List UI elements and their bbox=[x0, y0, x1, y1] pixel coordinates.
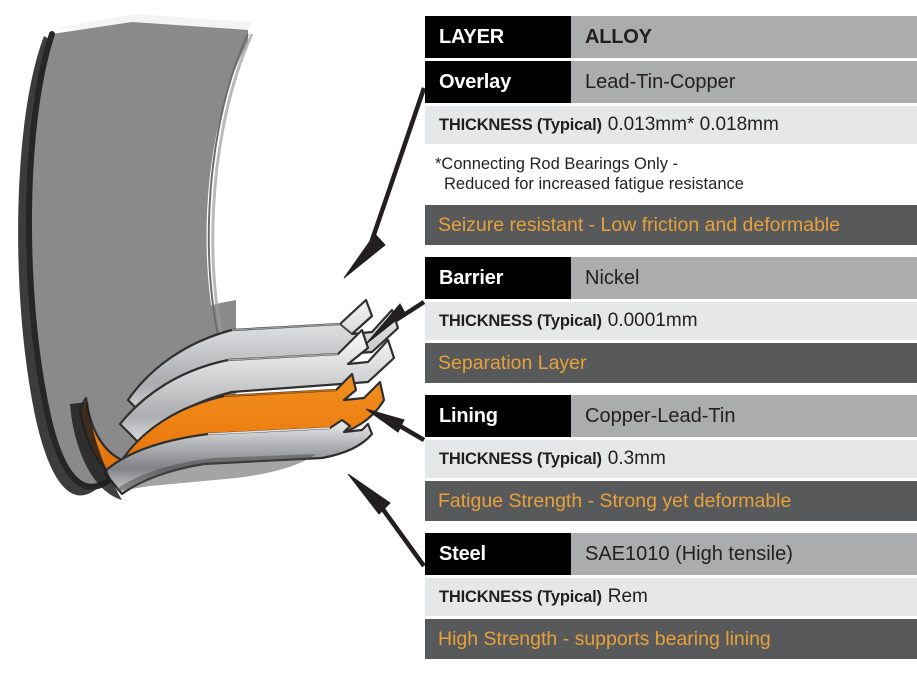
layer-alloy-lining: Copper-Lead-Tin bbox=[571, 405, 917, 428]
thickness-value-barrier: 0.0001mm bbox=[608, 310, 698, 332]
header-layer-cell: LAYER bbox=[425, 16, 571, 58]
layer-alloy-barrier: Nickel bbox=[571, 267, 917, 290]
thickness-row-steel: THICKNESS (Typical) Rem bbox=[425, 578, 917, 616]
layer-name-overlay: Overlay bbox=[425, 61, 571, 103]
thickness-row-lining: THICKNESS (Typical) 0.3mm bbox=[425, 440, 917, 478]
benefit-row-barrier: Separation Layer bbox=[425, 343, 917, 383]
layer-row-overlay: Overlay Lead-Tin-Copper bbox=[425, 61, 917, 103]
thickness-value-lining: 0.3mm bbox=[608, 448, 666, 470]
group-divider bbox=[425, 383, 917, 395]
group-divider bbox=[425, 245, 917, 257]
benefit-row-steel: High Strength - supports bearing lining bbox=[425, 619, 917, 659]
layer-group-steel: Steel SAE1010 (High tensile) THICKNESS (… bbox=[425, 533, 917, 659]
table-header-row: LAYER ALLOY bbox=[425, 16, 917, 58]
layer-spec-table: LAYER ALLOY Overlay Lead-Tin-Copper THIC… bbox=[425, 16, 917, 659]
thickness-value-steel: Rem bbox=[608, 586, 648, 608]
layer-alloy-overlay: Lead-Tin-Copper bbox=[571, 71, 917, 94]
layer-alloy-steel: SAE1010 (High tensile) bbox=[571, 543, 917, 566]
thickness-row-barrier: THICKNESS (Typical) 0.0001mm bbox=[425, 302, 917, 340]
thickness-label: THICKNESS (Typical) bbox=[439, 450, 602, 469]
layer-group-overlay: Overlay Lead-Tin-Copper THICKNESS (Typic… bbox=[425, 61, 917, 245]
group-divider bbox=[425, 521, 917, 533]
bearing-layer-diagram: LAYER ALLOY Overlay Lead-Tin-Copper THIC… bbox=[0, 0, 917, 693]
layer-name-lining: Lining bbox=[425, 395, 571, 437]
layer-row-lining: Lining Copper-Lead-Tin bbox=[425, 395, 917, 437]
layer-row-steel: Steel SAE1010 (High tensile) bbox=[425, 533, 917, 575]
layer-name-steel: Steel bbox=[425, 533, 571, 575]
footnote-line-1: *Connecting Rod Bearings Only - bbox=[435, 155, 678, 173]
bearing-illustration bbox=[0, 0, 425, 693]
layer-group-barrier: Barrier Nickel THICKNESS (Typical) 0.000… bbox=[425, 257, 917, 383]
thickness-value-overlay: 0.013mm* 0.018mm bbox=[608, 114, 779, 136]
benefit-row-overlay: Seizure resistant - Low friction and def… bbox=[425, 205, 917, 245]
thickness-label: THICKNESS (Typical) bbox=[439, 588, 602, 607]
thickness-label: THICKNESS (Typical) bbox=[439, 312, 602, 331]
layer-group-lining: Lining Copper-Lead-Tin THICKNESS (Typica… bbox=[425, 395, 917, 521]
layer-name-barrier: Barrier bbox=[425, 257, 571, 299]
footnote-line-2: Reduced for increased fatigue resistance bbox=[435, 174, 917, 194]
thickness-label: THICKNESS (Typical) bbox=[439, 116, 602, 135]
thickness-row-overlay: THICKNESS (Typical) 0.013mm* 0.018mm bbox=[425, 106, 917, 144]
footnote-overlay: *Connecting Rod Bearings Only - Reduced … bbox=[425, 147, 917, 202]
benefit-row-lining: Fatigue Strength - Strong yet deformable bbox=[425, 481, 917, 521]
bearing-shell-svg bbox=[0, 0, 425, 693]
header-alloy-cell: ALLOY bbox=[571, 26, 917, 49]
layer-row-barrier: Barrier Nickel bbox=[425, 257, 917, 299]
